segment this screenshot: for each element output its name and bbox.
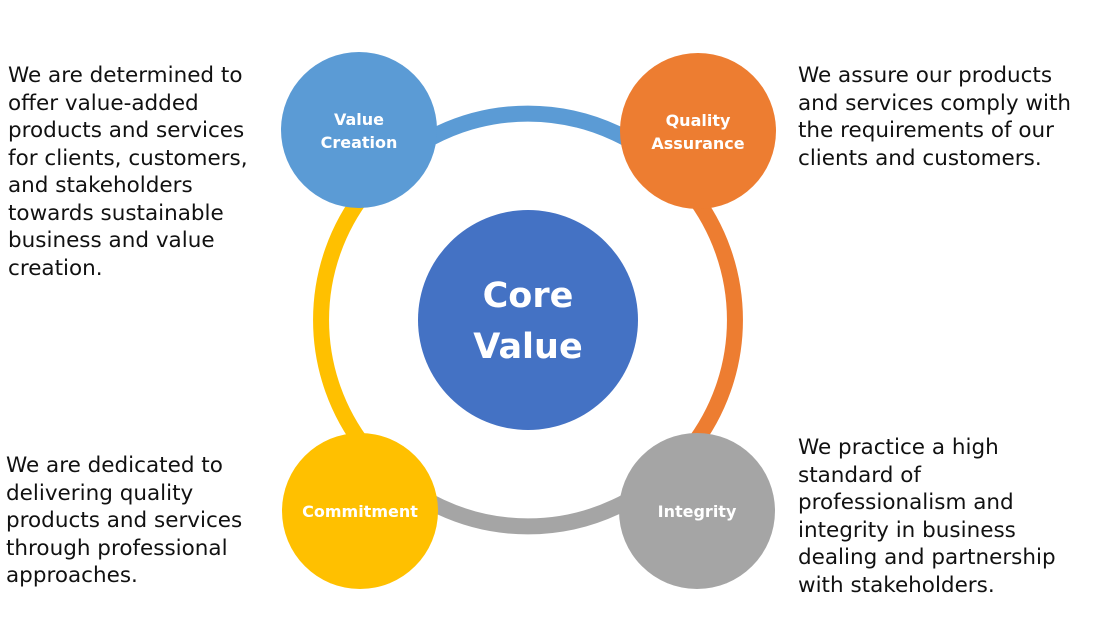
node-quality-assurance[interactable]: Quality Assurance [620, 53, 776, 209]
core-value-circle[interactable] [418, 210, 638, 430]
quality-assurance-label-line1: Quality [666, 111, 731, 130]
core-value-hub[interactable]: Core Value [418, 210, 638, 430]
node-value-creation[interactable]: Value Creation [281, 52, 437, 208]
description-integrity: We practice a high standard of professio… [798, 434, 1094, 599]
description-quality-assurance: We assure our products and services comp… [798, 62, 1088, 172]
value-creation-circle[interactable] [281, 52, 437, 208]
node-integrity[interactable]: Integrity [619, 433, 775, 589]
diagram-canvas: Core Value Value Creation Quality Assura… [0, 0, 1098, 642]
commitment-label-line1: Commitment [302, 502, 418, 521]
node-commitment[interactable]: Commitment [282, 433, 438, 589]
core-value-label-line1: Core [483, 276, 574, 316]
integrity-label-line1: Integrity [658, 502, 737, 521]
arc-right-orange [691, 193, 735, 448]
description-value-creation: We are determined to offer value-added p… [8, 62, 260, 282]
arc-left-yellow [321, 193, 365, 448]
quality-assurance-circle[interactable] [620, 53, 776, 209]
value-creation-label-line2: Creation [321, 133, 398, 152]
quality-assurance-label-line2: Assurance [651, 134, 744, 153]
core-value-label-line2: Value [473, 327, 582, 367]
value-creation-label-line1: Value [334, 110, 384, 129]
description-commitment: We are dedicated to delivering quality p… [6, 452, 264, 590]
